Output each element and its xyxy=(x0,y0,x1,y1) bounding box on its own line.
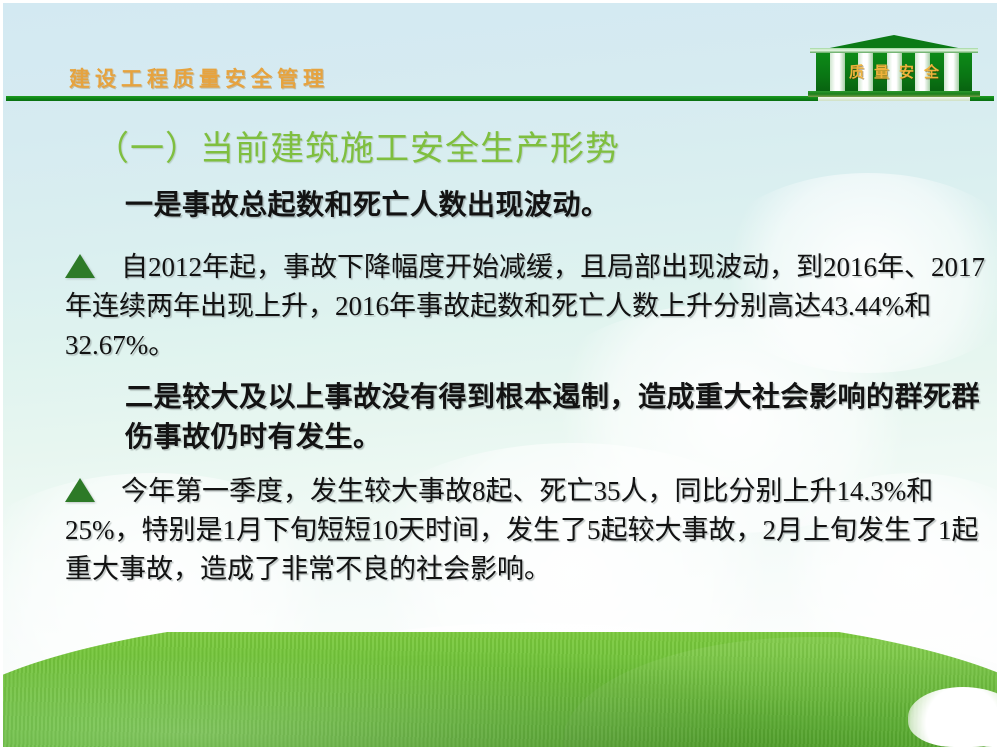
grass-hill xyxy=(3,632,997,747)
logo-column-icon xyxy=(944,53,959,91)
logo-column-icon xyxy=(830,53,845,91)
logo-column-icon xyxy=(858,53,873,91)
paragraph-two: 今年第一季度，发生较大事故8起、死亡35人，同比分别上升14.3%和25%，特别… xyxy=(3,458,997,589)
paragraph-two-text: 今年第一季度，发生较大事故8起、死亡35人，同比分别上升14.3%和25%，特别… xyxy=(65,476,979,584)
presentation-slide: 建设工程质量安全管理 质量安全 （一）当前建筑施工安全生产形势 xyxy=(0,0,1000,750)
logo-colonnade xyxy=(816,53,972,91)
lead-statement-two: 二是较大及以上事故没有得到根本遏制，造成重大社会影响的群死群伤事故仍时有发生。 xyxy=(3,364,997,458)
cloud-decoration xyxy=(908,687,997,747)
section-title: （一）当前建筑施工安全生产形势 xyxy=(3,105,997,170)
quality-safety-logo: 质量安全 xyxy=(808,35,980,101)
triangle-up-icon xyxy=(65,254,95,278)
grass-decoration xyxy=(3,632,997,747)
cloud-decoration xyxy=(963,707,997,747)
logo-column-icon xyxy=(915,53,930,91)
triangle-up-icon xyxy=(65,478,95,502)
logo-column-icon xyxy=(887,53,902,91)
paragraph-one: 自2012年起，事故下降幅度开始减缓，且局部出现波动，到2016年、2017年连… xyxy=(3,226,997,365)
paragraph-one-text: 自2012年起，事故下降幅度开始减缓，且局部出现波动，到2016年、2017年连… xyxy=(65,252,985,360)
slide-canvas: 建设工程质量安全管理 质量安全 （一）当前建筑施工安全生产形势 xyxy=(3,3,997,747)
lead-statement-one: 一是事故总起数和死亡人数出现波动。 xyxy=(3,170,997,226)
grass-shading xyxy=(3,632,997,747)
logo-base-step xyxy=(818,97,970,101)
slide-header: 建设工程质量安全管理 质量安全 xyxy=(3,3,997,105)
cloud-decoration xyxy=(183,623,883,747)
slide-content: （一）当前建筑施工安全生产形势 一是事故总起数和死亡人数出现波动。 自2012年… xyxy=(3,105,997,589)
grass-ridge xyxy=(563,637,997,747)
header-title: 建设工程质量安全管理 xyxy=(69,63,329,93)
